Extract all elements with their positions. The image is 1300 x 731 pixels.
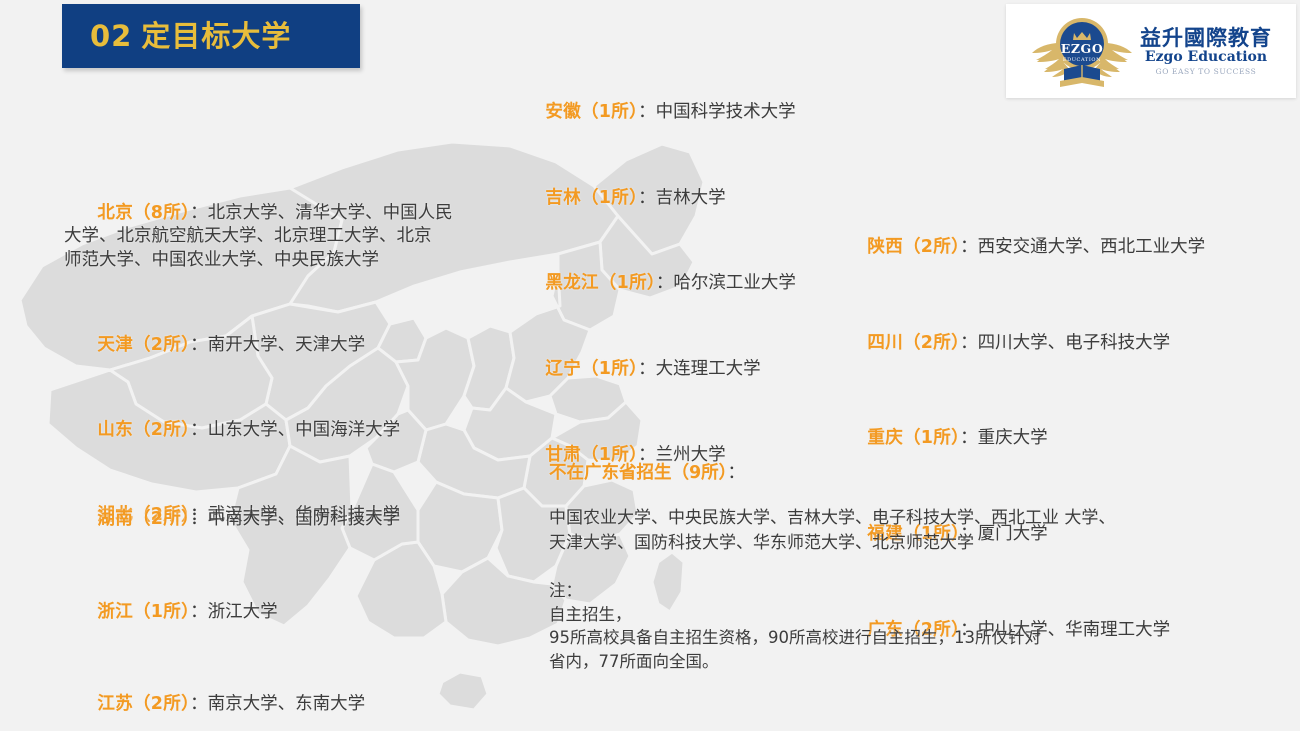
province-label: 安徽（1所） — [545, 102, 638, 122]
province-separator: ： — [190, 203, 208, 223]
notes-footnote: 注： 自主招生， 95所高校具备自主招生资格，90所高校进行自主招生，13所仅针… — [549, 579, 1119, 673]
notes-university-list: 中国农业大学、中央民族大学、吉林大学、电子科技大学、西北工业 大学、天津大学、国… — [549, 506, 1119, 555]
province-entry: 天津（2所）：南开大学、天津大学 — [64, 310, 476, 381]
province-label: 辽宁（1所） — [545, 359, 638, 379]
province-list-middle: 安徽（1所）：中国科学技术大学 吉林（1所）：吉林大学 黑龙江（1所）：哈尔滨工… — [512, 77, 842, 506]
province-label: 北京（8所） — [97, 203, 190, 223]
province-separator: ： — [190, 509, 208, 529]
province-separator: ： — [638, 359, 656, 379]
province-separator: ： — [960, 428, 978, 448]
province-entry: 陕西（2所）：西安交通大学、西北工业大学 — [834, 212, 1254, 283]
province-entry: 浙江（1所）：浙江大学 — [64, 577, 476, 648]
university-list: 四川大学、电子科技大学 — [978, 333, 1171, 353]
province-label: 重庆（1所） — [867, 428, 960, 448]
province-entry: 黑龙江（1所）：哈尔滨工业大学 — [512, 249, 842, 320]
university-list: 南开大学、天津大学 — [208, 335, 366, 355]
province-entry: 辽宁（1所）：大连理工大学 — [512, 335, 842, 406]
province-separator: ： — [190, 602, 208, 622]
province-entry: 湖南（2所）：中南大学、国防科技大学 — [64, 484, 476, 555]
province-label: 黑龙江（1所） — [545, 273, 656, 293]
university-list: 南京大学、东南大学 — [208, 694, 366, 714]
province-separator: ： — [960, 237, 978, 257]
province-list-left-bottom: 湖南（2所）：中南大学、国防科技大学 浙江（1所）：浙江大学 江苏（2所）：南京… — [64, 484, 476, 731]
university-list: 中国科学技术大学 — [656, 102, 796, 122]
university-list: 山东大学、中国海洋大学 — [208, 420, 401, 440]
university-list: 西安交通大学、西北工业大学 — [978, 237, 1206, 257]
brand-name-cn: 益升國際教育 — [1140, 26, 1272, 49]
section-number: 02 — [90, 19, 132, 53]
province-entry: 安徽（1所）：中国科学技术大学 — [512, 77, 842, 148]
province-entry: 北京（8所）：北京大学、清华大学、中国人民 大学、北京航空航天大学、北京理工大学… — [64, 178, 476, 296]
province-label: 吉林（1所） — [545, 188, 638, 208]
province-label: 浙江（1所） — [97, 602, 190, 622]
province-label: 江苏（2所） — [97, 694, 190, 714]
brand-logo-card: EZGO EDUCATION 益升國際教育 Ezgo Education GO … — [1006, 4, 1296, 98]
province-label: 天津（2所） — [97, 335, 190, 355]
province-entry: 江苏（2所）：南京大学、东南大学 — [64, 670, 476, 731]
ezgo-emblem-icon: EZGO EDUCATION — [1030, 11, 1134, 91]
province-separator: ： — [638, 188, 656, 208]
ezgo-emblem-svg: EZGO EDUCATION — [1030, 11, 1134, 91]
province-label: 四川（2所） — [867, 333, 960, 353]
province-separator: ： — [190, 335, 208, 355]
province-separator: ： — [190, 694, 208, 714]
brand-logo-text: 益升國際教育 Ezgo Education GO EASY TO SUCCESS — [1140, 26, 1272, 76]
province-separator: ： — [656, 273, 674, 293]
svg-text:EZGO: EZGO — [1061, 41, 1104, 56]
section-title-banner: 02定目标大学 — [62, 4, 360, 68]
slide-root: 02定目标大学 — [0, 0, 1300, 731]
province-label: 山东（2所） — [97, 420, 190, 440]
brand-name-en: Ezgo Education — [1145, 50, 1267, 65]
university-list: 浙江大学 — [208, 602, 278, 622]
province-separator: ： — [638, 102, 656, 122]
province-label: 陕西（2所） — [867, 237, 960, 257]
notes-heading-label: 不在广东省招生（9所） — [549, 463, 727, 483]
university-list: 大连理工大学 — [656, 359, 761, 379]
university-list: 吉林大学 — [656, 188, 726, 208]
province-entry: 山东（2所）：山东大学、中国海洋大学 — [64, 395, 476, 466]
svg-text:EDUCATION: EDUCATION — [1063, 57, 1101, 63]
university-list: 哈尔滨工业大学 — [673, 273, 796, 293]
university-list: 重庆大学 — [978, 428, 1048, 448]
province-entry: 四川（2所）：四川大学、电子科技大学 — [834, 308, 1254, 379]
notes-heading-colon: ： — [727, 463, 745, 483]
notes-heading: 不在广东省招生（9所）： — [549, 459, 1119, 484]
province-separator: ： — [190, 420, 208, 440]
province-label: 湖南（2所） — [97, 509, 190, 529]
province-entry: 吉林（1所）：吉林大学 — [512, 163, 842, 234]
province-separator: ： — [960, 333, 978, 353]
university-list: 中南大学、国防科技大学 — [208, 509, 401, 529]
brand-tagline: GO EASY TO SUCCESS — [1156, 68, 1257, 76]
section-title-text: 02定目标大学 — [90, 22, 291, 51]
section-title-label: 定目标大学 — [141, 19, 291, 53]
notes-block: 不在广东省招生（9所）： 中国农业大学、中央民族大学、吉林大学、电子科技大学、西… — [549, 459, 1119, 673]
